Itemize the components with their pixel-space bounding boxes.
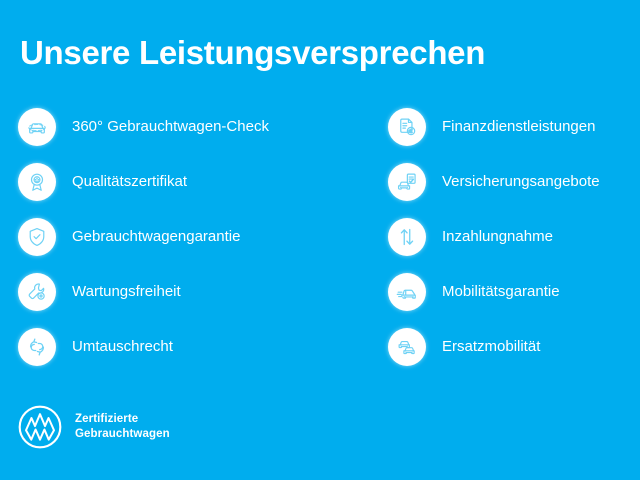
badge-icon-wrapper (18, 218, 56, 256)
benefit-label: Ersatzmobilität (442, 338, 540, 356)
benefit-item: Ersatzmobilität (388, 328, 638, 366)
wrench-gear-icon (26, 281, 48, 303)
volkswagen-roundel-logo (17, 404, 63, 450)
page-title: Unsere Leistungsversprechen (20, 33, 485, 73)
benefit-item: Gebrauchtwagengarantie (18, 218, 318, 256)
van-speed-icon (396, 281, 418, 303)
shield-check-icon (26, 226, 48, 248)
benefit-item: Finanzdienstleistungen (388, 108, 638, 146)
badge-icon-wrapper (388, 163, 426, 201)
benefit-label: Inzahlungnahme (442, 228, 553, 246)
car-clipboard-icon (396, 171, 418, 193)
car-360-check-icon (26, 116, 48, 138)
document-euro-icon (396, 116, 418, 138)
badge-icon-wrapper (18, 273, 56, 311)
benefit-label: Wartungsfreiheit (72, 283, 181, 301)
promo-poster: Unsere Leistungsversprechen 360° Gebrauc… (0, 0, 640, 480)
badge-icon-wrapper (388, 328, 426, 366)
benefit-label: 360° Gebrauchtwagen-Check (72, 118, 269, 136)
benefits-column-left: 360° Gebrauchtwagen-Check Qualitätszerti… (18, 108, 318, 383)
up-down-arrows-icon (396, 226, 418, 248)
badge-icon-wrapper (388, 218, 426, 256)
two-cars-icon (396, 336, 418, 358)
benefit-item: Qualitätszertifikat (18, 163, 318, 201)
quality-seal-icon (26, 171, 48, 193)
brand-text: Zertifizierte Gebrauchtwagen (75, 412, 170, 442)
badge-icon-wrapper (388, 108, 426, 146)
benefit-label: Versicherungsangebote (442, 173, 600, 191)
brand-lockup: Zertifizierte Gebrauchtwagen (17, 404, 170, 450)
benefit-item: Umtauschrecht (18, 328, 318, 366)
benefit-item: Wartungsfreiheit (18, 273, 318, 311)
badge-icon-wrapper (18, 328, 56, 366)
benefit-label: Qualitätszertifikat (72, 173, 187, 191)
benefit-item: Mobilitätsgarantie (388, 273, 638, 311)
benefits-column-right: Finanzdienstleistungen Versicherungsange… (388, 108, 638, 383)
badge-icon-wrapper (18, 108, 56, 146)
benefit-item: Versicherungsangebote (388, 163, 638, 201)
benefit-label: Gebrauchtwagengarantie (72, 228, 240, 246)
benefit-label: Mobilitätsgarantie (442, 283, 560, 301)
benefit-item: 360° Gebrauchtwagen-Check (18, 108, 318, 146)
benefit-label: Finanzdienstleistungen (442, 118, 595, 136)
benefit-item: Inzahlungnahme (388, 218, 638, 256)
brand-text-line2: Gebrauchtwagen (75, 427, 170, 442)
brand-text-line1: Zertifizierte (75, 412, 170, 427)
badge-icon-wrapper (388, 273, 426, 311)
benefit-label: Umtauschrecht (72, 338, 173, 356)
exchange-arrows-icon (26, 336, 48, 358)
badge-icon-wrapper (18, 163, 56, 201)
